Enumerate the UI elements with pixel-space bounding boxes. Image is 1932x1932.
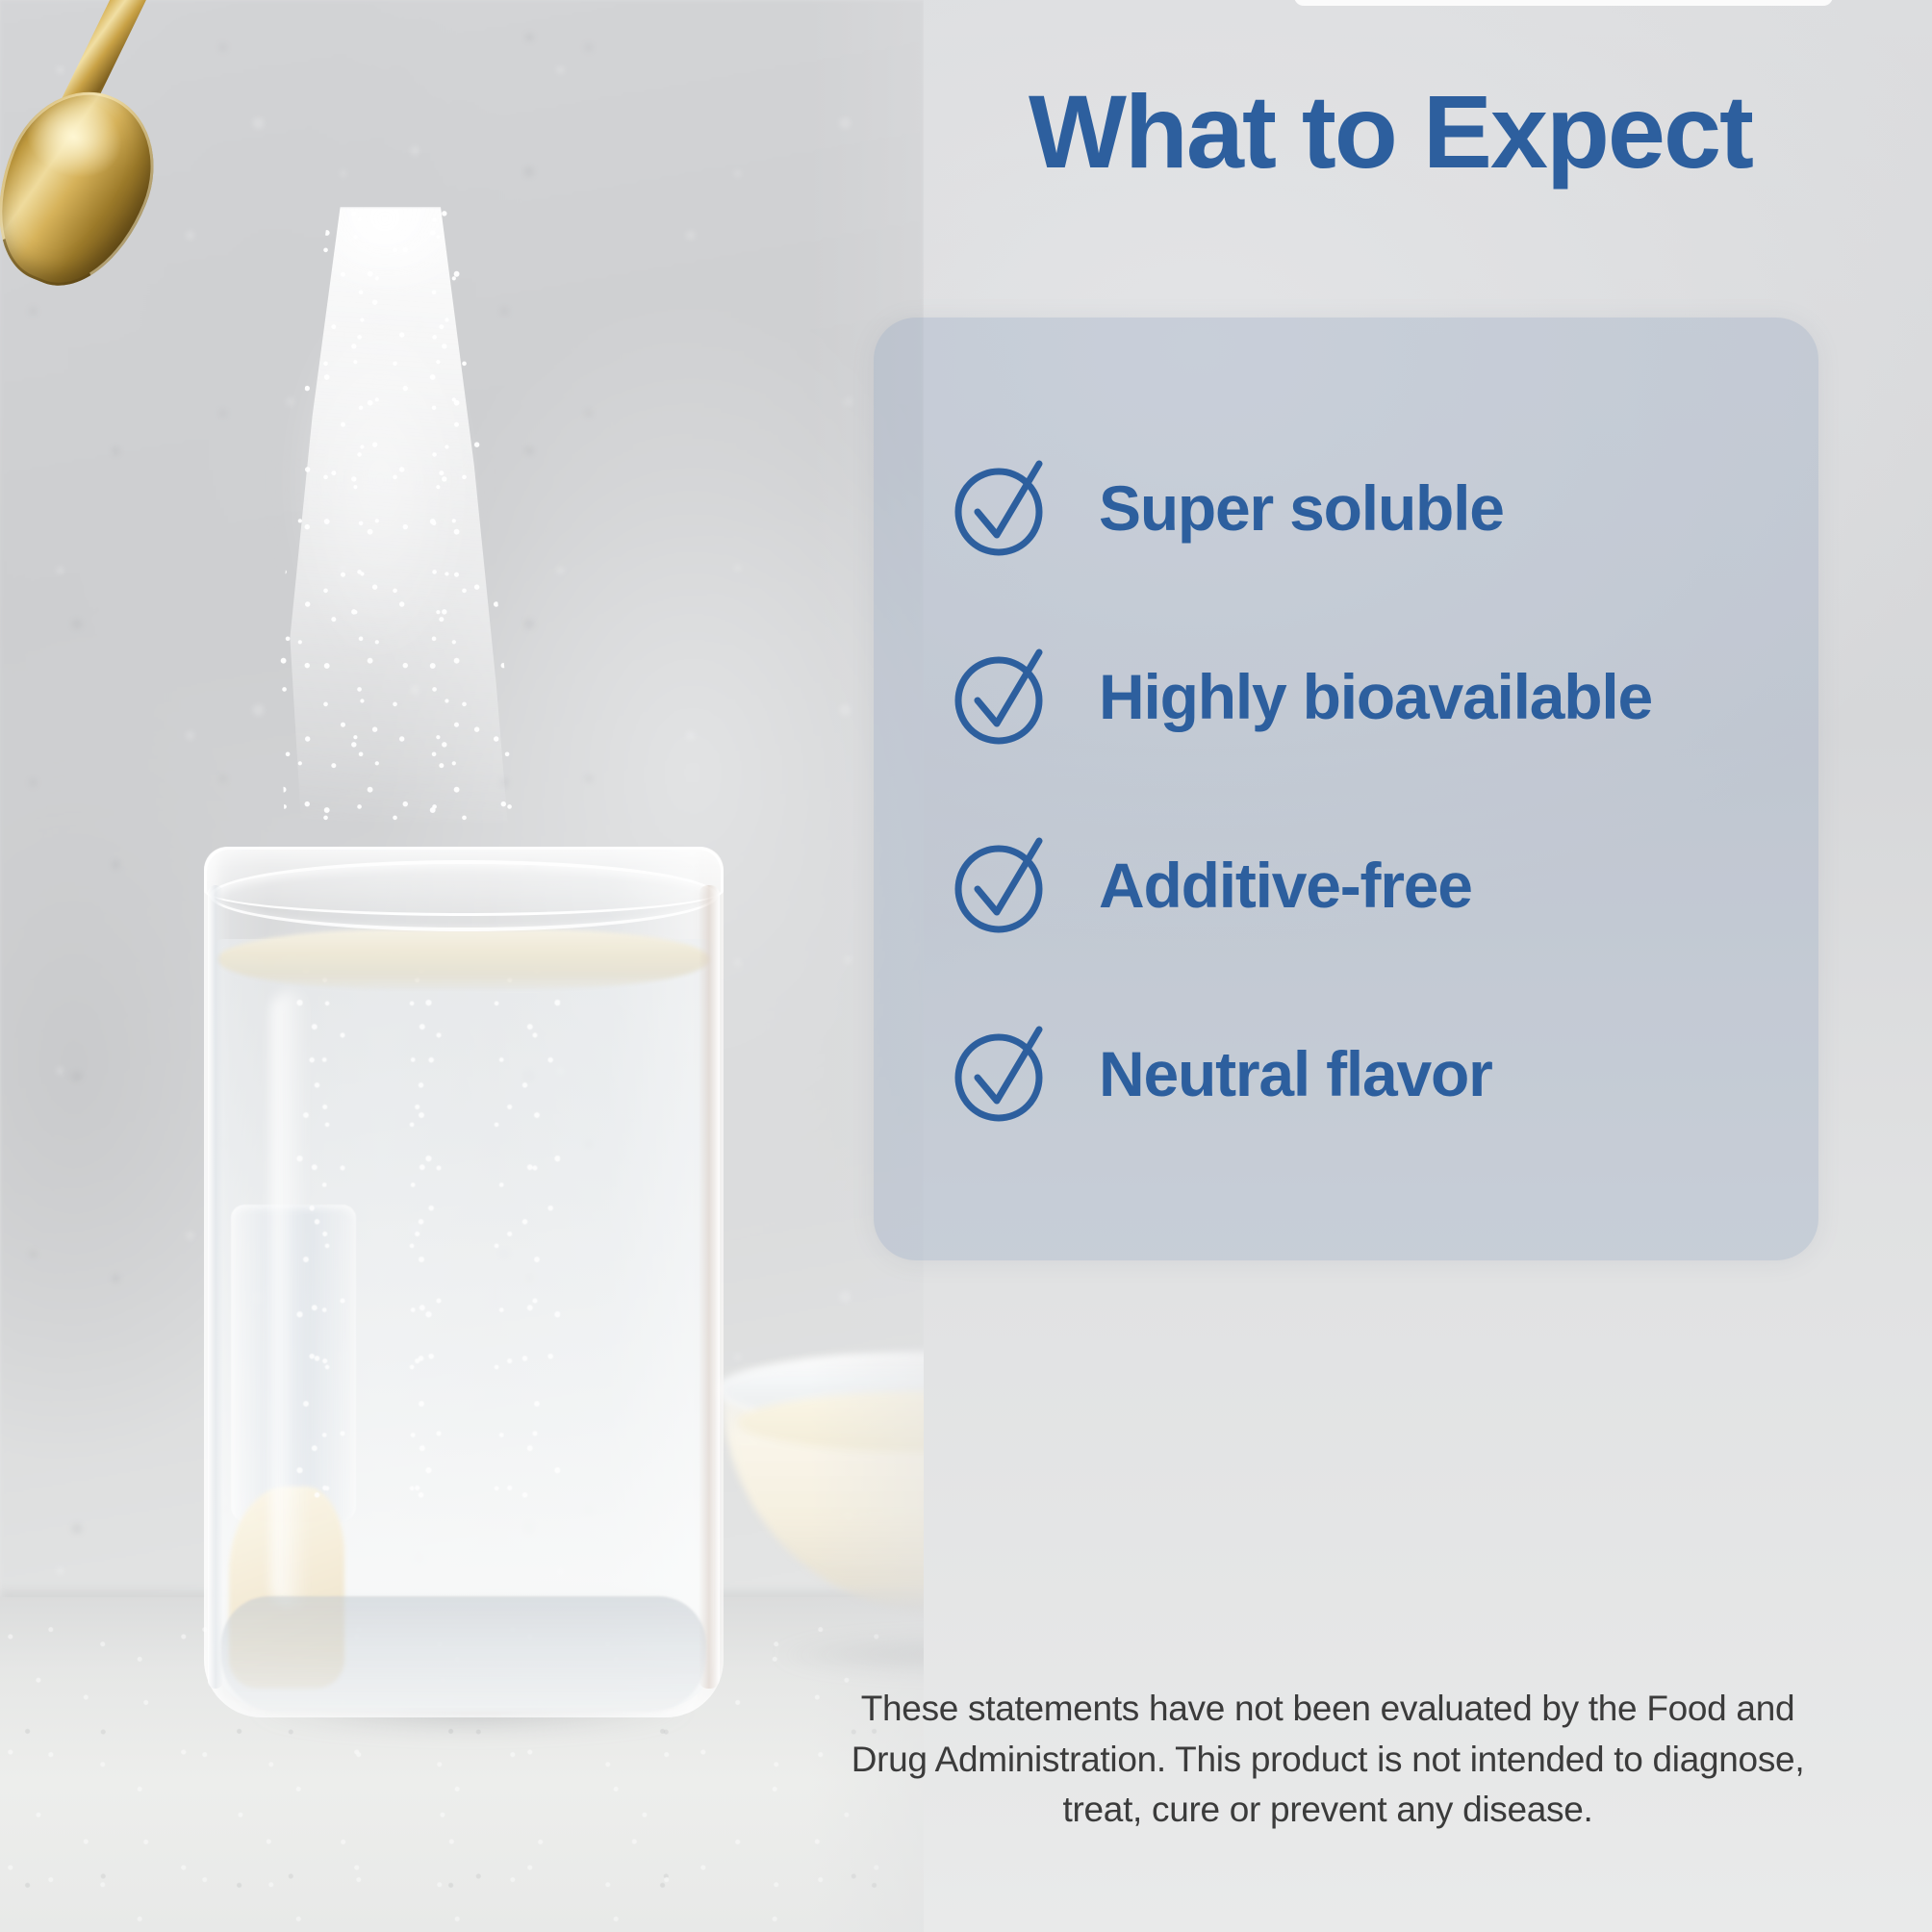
- benefits-checklist: Super soluble Highly bioavailable Additi…: [951, 414, 1855, 1168]
- promo-graphic: What to Expect Super soluble Highly bioa…: [0, 0, 1932, 1932]
- list-item: Additive-free: [951, 791, 1855, 979]
- product-photo: [0, 0, 924, 1932]
- list-item-label: Highly bioavailable: [1099, 660, 1652, 733]
- glass-base: [221, 1596, 706, 1712]
- glass-right-edge-highlight: [699, 885, 720, 1689]
- check-circle-icon: [951, 1022, 1055, 1126]
- top-edge-artifact: [1294, 0, 1833, 6]
- page-title: What to Expect: [904, 77, 1876, 186]
- glass-specular-highlight: [271, 991, 310, 1607]
- check-circle-icon: [951, 456, 1055, 560]
- list-item: Highly bioavailable: [951, 602, 1855, 791]
- drinking-glass: [204, 847, 724, 1717]
- list-item: Neutral flavor: [951, 979, 1855, 1168]
- glass-rim-ellipse: [210, 860, 718, 931]
- list-item-label: Additive-free: [1099, 849, 1472, 922]
- check-circle-icon: [951, 645, 1055, 749]
- water-surface-foam: [217, 929, 710, 989]
- sinking-powder-grains: [271, 962, 560, 1501]
- fda-disclaimer: These statements have not been evaluated…: [827, 1684, 1828, 1836]
- powder-stream-haze: [207, 265, 553, 803]
- list-item-label: Neutral flavor: [1099, 1037, 1492, 1110]
- list-item-label: Super soluble: [1099, 471, 1504, 545]
- list-item: Super soluble: [951, 414, 1855, 602]
- check-circle-icon: [951, 833, 1055, 937]
- glass-left-edge-highlight: [208, 885, 223, 1689]
